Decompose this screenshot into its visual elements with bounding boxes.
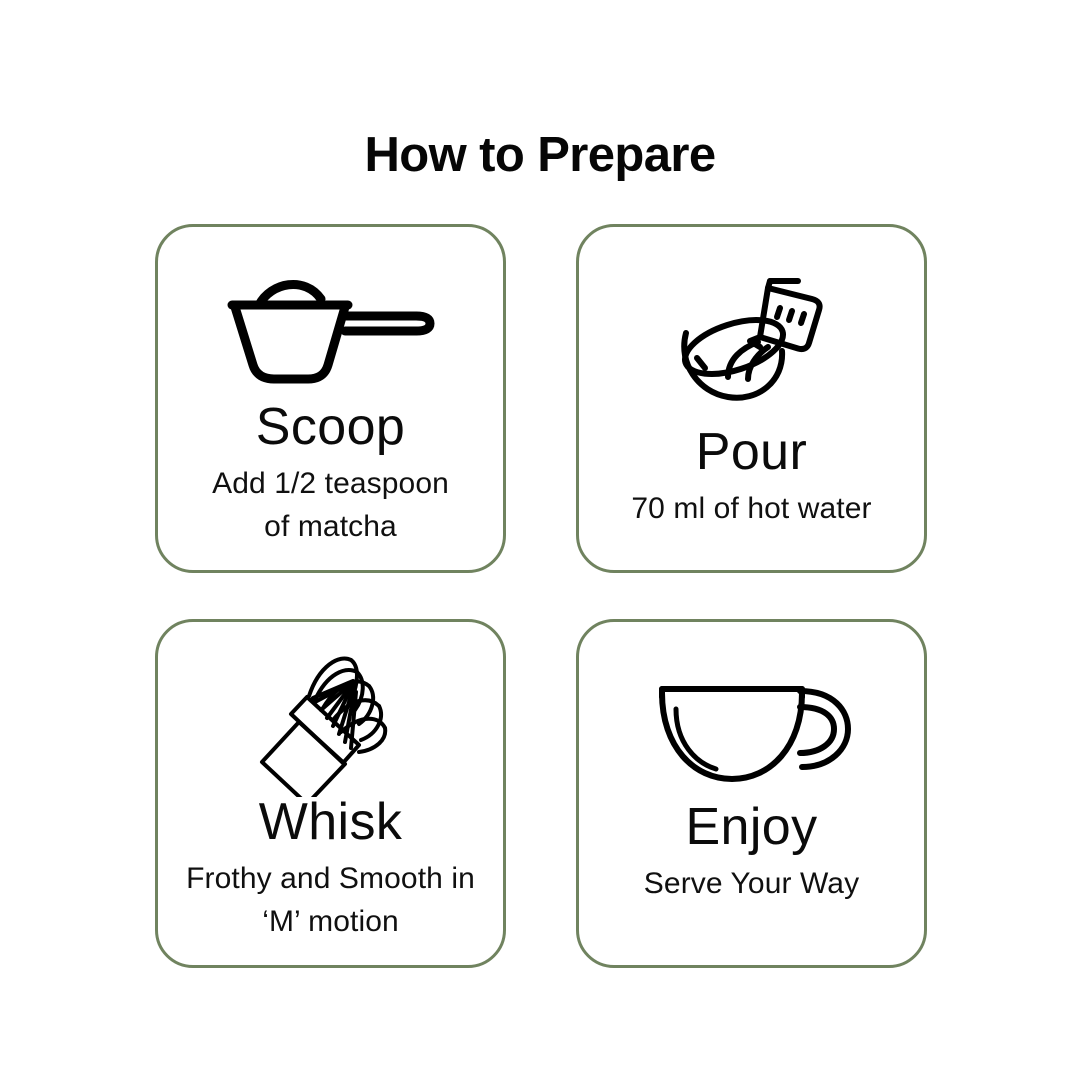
step-heading-scoop: Scoop [166,396,495,458]
step-text-scoop: Scoop Add 1/2 teaspoon of matcha [166,396,495,548]
step-description-whisk: Frothy and Smooth in ‘M’ motion [166,857,495,943]
how-to-prepare-infographic: How to Prepare Scoop [0,0,1080,1080]
step-description-enjoy: Serve Your Way [587,862,916,905]
steps-grid: Scoop Add 1/2 teaspoon of matcha [155,224,927,986]
step-description-scoop: Add 1/2 teaspoon of matcha [166,462,495,548]
step-card-pour[interactable]: Pour 70 ml of hot water [576,224,927,573]
step-text-enjoy: Enjoy Serve Your Way [587,796,916,905]
step-text-pour: Pour 70 ml of hot water [587,421,916,530]
step-description-pour: 70 ml of hot water [587,487,916,530]
step-card-whisk[interactable]: Whisk Frothy and Smooth in ‘M’ motion [155,619,506,968]
step-heading-enjoy: Enjoy [587,796,916,858]
step-card-scoop[interactable]: Scoop Add 1/2 teaspoon of matcha [155,224,506,573]
step-card-enjoy[interactable]: Enjoy Serve Your Way [576,619,927,968]
measuring-scoop-icon [158,231,503,421]
pouring-pitcher-into-bowl-icon [579,229,924,429]
step-heading-pour: Pour [587,421,916,483]
page-title: How to Prepare [0,125,1080,185]
step-heading-whisk: Whisk [166,791,495,853]
step-text-whisk: Whisk Frothy and Smooth in ‘M’ motion [166,791,495,943]
